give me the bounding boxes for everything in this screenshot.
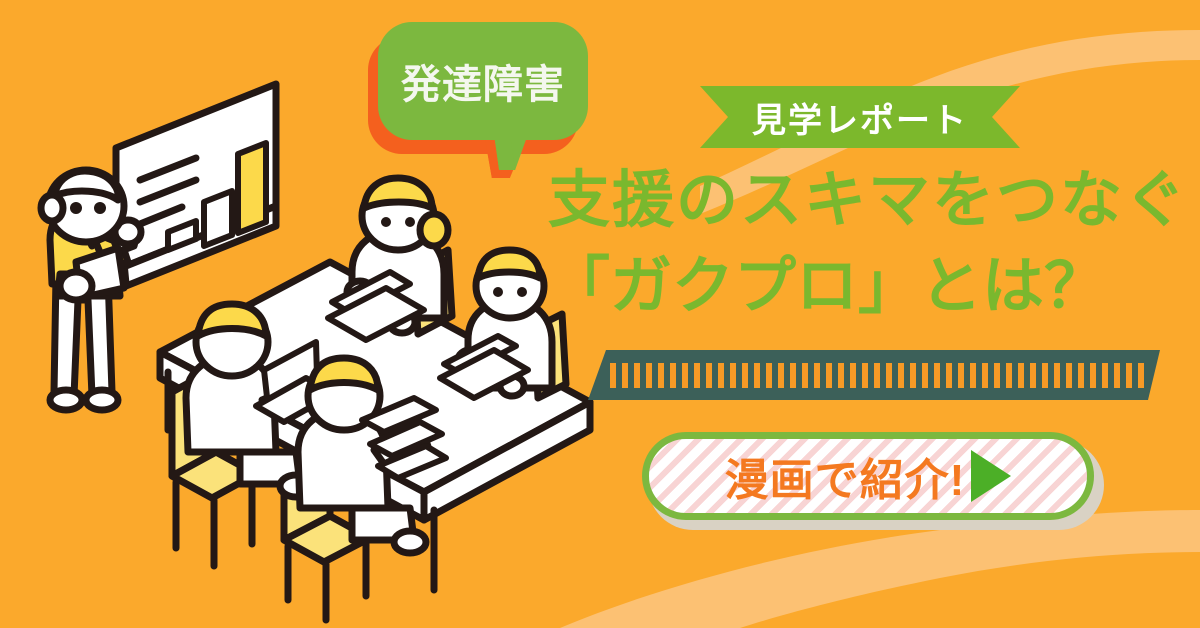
headline-block: 支援のスキマをつなぐ 「ガクプロ」とは？ (548, 158, 1188, 330)
ribbon-label: 見学レポート (752, 93, 968, 142)
film-strip-divider (588, 350, 1160, 400)
badge-body: 発達障害 (378, 22, 588, 140)
whiteboard (116, 84, 276, 290)
promo-banner: 発達障害 見学レポート 支援のスキマをつなぐ 「ガクプロ」とは？ 漫画で紹介! (0, 0, 1200, 628)
category-badge: 発達障害 (368, 22, 584, 154)
badge-label: 発達障害 (401, 52, 565, 110)
headline-line-2: 「ガクプロ」とは？ (548, 244, 1188, 330)
student-back-figure (328, 178, 448, 340)
cta-label: 漫画で紹介! (725, 444, 966, 508)
presenter-figure (41, 170, 141, 410)
report-ribbon: 見学レポート (700, 86, 1020, 148)
divider-ticks-icon (610, 363, 1144, 388)
headline-line-1: 支援のスキマをつなぐ (548, 158, 1188, 244)
cta-button[interactable]: 漫画で紹介! (642, 432, 1094, 520)
student-right-figure (440, 250, 552, 398)
play-triangle-icon (971, 450, 1011, 502)
